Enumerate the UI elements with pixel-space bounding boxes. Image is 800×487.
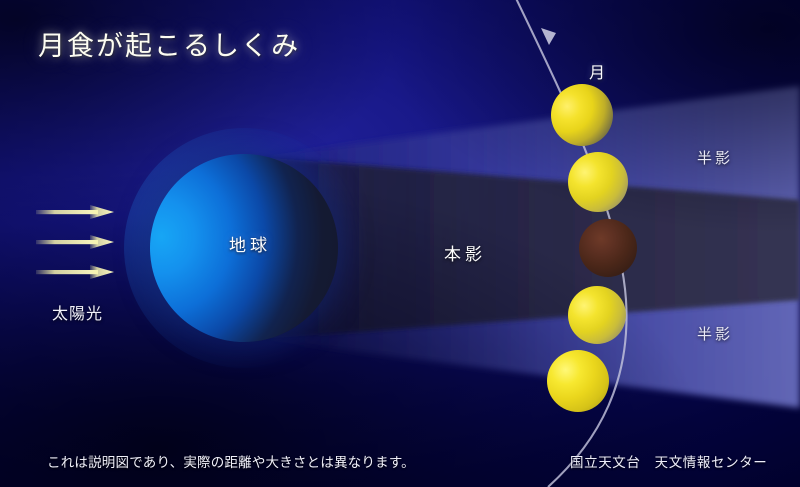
lunar-eclipse-diagram: 月食が起こるしくみ 地球 本影 半影 半影 月 太陽光 これは説明図であり、実際… (0, 0, 800, 487)
arrow-group (36, 205, 114, 279)
moon-2-penumbra (568, 152, 628, 212)
disclaimer-note: これは説明図であり、実際の距離や大きさとは異なります。 (47, 451, 415, 471)
sun-arrow-1 (36, 205, 114, 219)
moon-3-umbra-total (579, 219, 637, 277)
sun-arrow-3 (36, 265, 114, 279)
moon-1-outside (551, 84, 613, 146)
label-sunlight: 太陽光 (52, 300, 103, 324)
credit-text: 国立天文台 天文情報センター (570, 451, 767, 471)
moon-4-penumbra (568, 286, 626, 344)
label-earth: 地球 (229, 231, 271, 256)
label-moon: 月 (589, 59, 605, 83)
sun-arrow-2 (36, 235, 114, 249)
label-penumbra-bottom: 半影 (697, 323, 733, 344)
label-penumbra-top: 半影 (697, 147, 733, 168)
label-umbra: 本影 (444, 240, 486, 265)
moon-5-outside (547, 350, 609, 412)
page-title: 月食が起こるしくみ (38, 24, 300, 63)
sunlight-arrows (34, 192, 164, 292)
